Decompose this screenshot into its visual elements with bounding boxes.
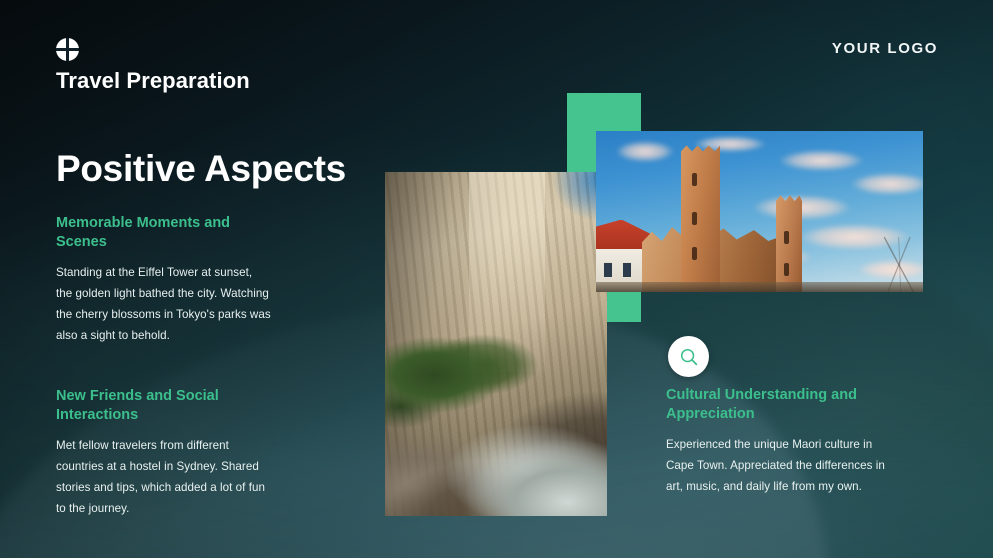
block-body: Standing at the Eiffel Tower at sunset, … [56,262,271,346]
castle-window [622,262,632,278]
tower-window-slot [784,231,789,244]
castle-ground [596,282,923,292]
cloud-shape [616,141,675,162]
block-heading: New Friends and Social Interactions [56,387,271,424]
tower-window-slot [692,212,697,225]
block-heading: Memorable Moments and Scenes [56,214,271,251]
content-block-friends: New Friends and Social Interactions Met … [56,387,271,519]
castle-window [603,262,613,278]
tower-window-slot [692,173,697,186]
photo-coastal-cliff [385,172,607,516]
magnifier-icon [679,347,699,367]
tower-window-slot [692,247,697,260]
brand-logo-text: YOUR LOGO [832,40,938,57]
circle-crosshair-icon [56,38,79,61]
castle-small-tower [776,195,802,292]
block-heading: Cultural Understanding and Appreciation [666,386,898,423]
tower-window-slot [784,263,789,276]
cloud-shape [753,195,851,219]
photo-castle-ruins [596,131,923,292]
castle-main-tower [681,145,720,292]
search-badge[interactable] [668,336,709,377]
deck-title: Travel Preparation [56,68,250,94]
content-block-memorable: Memorable Moments and Scenes Standing at… [56,214,271,346]
page-title: Positive Aspects [56,148,346,190]
block-body: Experienced the unique Maori culture in … [666,434,898,497]
block-body: Met fellow travelers from different coun… [56,435,271,519]
slide: Travel Preparation YOUR LOGO Positive As… [0,0,993,558]
photo-sunlight-overlay [469,172,544,372]
content-block-cultural: Cultural Understanding and Appreciation … [666,386,898,497]
cloud-shape [851,173,923,196]
cloud-shape [779,150,864,171]
